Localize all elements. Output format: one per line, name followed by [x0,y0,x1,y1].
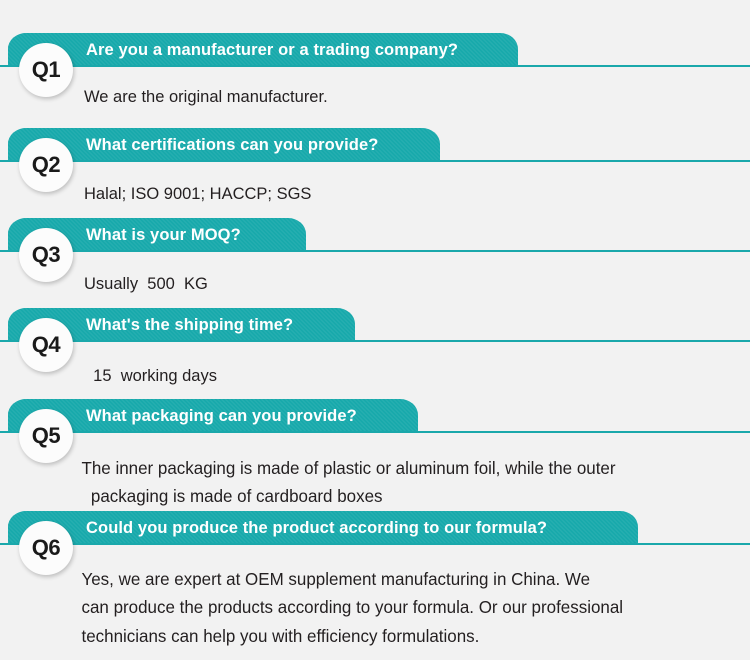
question-text: What is your MOQ? [86,226,241,245]
question-text: Are you a manufacturer or a trading comp… [86,41,458,60]
faq-item: Are you a manufacturer or a trading comp… [0,33,750,128]
question-text: What packaging can you provide? [86,407,357,426]
answer-line: technicians can help you with efficiency… [81,622,698,650]
faq-item: What is your MOQ?Q3Usually 500 KG [0,218,750,308]
answer-line: The inner packaging is made of plastic o… [81,454,698,482]
faq-item: What's the shipping time?Q4 15 working d… [0,308,750,399]
question-underline [0,160,750,162]
question-number-badge: Q2 [19,138,73,192]
question-bar-fill: What certifications can you provide? [8,128,440,162]
answer-line: 15 working days [84,364,720,389]
answer-line: We are the original manufacturer. [84,85,720,110]
faq-item: Could you produce the product according … [0,511,750,651]
question-number-badge: Q1 [19,43,73,97]
answer-line: Halal; ISO 9001; HACCP; SGS [84,182,720,207]
faq-answer: The inner packaging is made of plastic o… [0,433,728,511]
faq-item: What packaging can you provide?Q5The inn… [0,399,750,511]
question-text: Could you produce the product according … [86,519,547,538]
answer-line: packaging is made of cardboard boxes [81,482,698,510]
question-number-badge: Q6 [19,521,73,575]
question-underline [0,65,750,67]
question-bar-fill: Could you produce the product according … [8,511,638,545]
faq-question-bar[interactable]: What's the shipping time? [0,308,750,342]
faq-item: What certifications can you provide?Q2Ha… [0,128,750,218]
faq-answer: 15 working days [0,342,750,389]
faq-question-bar[interactable]: What is your MOQ? [0,218,750,252]
faq-question-bar[interactable]: Could you produce the product according … [0,511,750,545]
faq-answer: Halal; ISO 9001; HACCP; SGS [0,162,750,207]
question-text: What's the shipping time? [86,316,293,335]
question-number-badge: Q3 [19,228,73,282]
faq-answer: We are the original manufacturer. [0,67,750,110]
faq-question-bar[interactable]: Are you a manufacturer or a trading comp… [0,33,750,67]
question-number-badge: Q4 [19,318,73,372]
question-number-label: Q3 [32,242,61,268]
question-underline [0,340,750,342]
faq-question-bar[interactable]: What packaging can you provide? [0,399,750,433]
faq-answer: Usually 500 KG [0,252,750,297]
faq-question-bar[interactable]: What certifications can you provide? [0,128,750,162]
question-number-label: Q1 [32,57,61,83]
question-text: What certifications can you provide? [86,136,378,155]
answer-line: can produce the products according to yo… [81,593,698,621]
question-underline [0,250,750,252]
question-number-label: Q6 [32,535,61,561]
answer-line: Usually 500 KG [84,272,720,297]
question-number-badge: Q5 [19,409,73,463]
answer-line: Yes, we are expert at OEM supplement man… [81,565,698,593]
faq-answer: Yes, we are expert at OEM supplement man… [0,545,728,650]
question-number-label: Q5 [32,423,61,449]
question-bar-fill: Are you a manufacturer or a trading comp… [8,33,518,67]
question-number-label: Q4 [32,332,61,358]
question-number-label: Q2 [32,152,61,178]
